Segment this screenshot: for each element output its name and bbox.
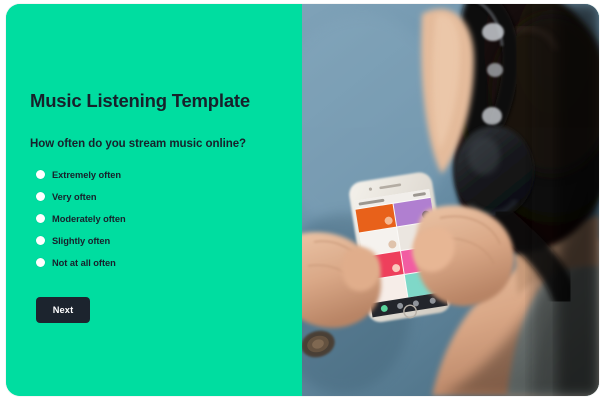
option-label: Not at all often bbox=[52, 258, 116, 268]
next-button[interactable]: Next bbox=[36, 297, 90, 323]
music-listening-survey-card: Music Listening Template How often do yo… bbox=[6, 4, 599, 396]
headphones-listener-photo bbox=[302, 4, 599, 396]
option-not-at-all-often[interactable]: Not at all often bbox=[30, 252, 288, 273]
option-label: Very often bbox=[52, 192, 96, 202]
option-extremely-often[interactable]: Extremely often bbox=[30, 164, 288, 185]
option-label: Moderately often bbox=[52, 214, 126, 224]
radio-icon[interactable] bbox=[36, 214, 45, 223]
option-moderately-often[interactable]: Moderately often bbox=[30, 208, 288, 229]
radio-icon[interactable] bbox=[36, 170, 45, 179]
option-label: Slightly often bbox=[52, 236, 110, 246]
form-content: Music Listening Template How often do yo… bbox=[30, 90, 288, 323]
question-label: How often do you stream music online? bbox=[30, 138, 288, 150]
radio-icon[interactable] bbox=[36, 236, 45, 245]
option-very-often[interactable]: Very often bbox=[30, 186, 288, 207]
options-list: Extremely often Very often Moderately of… bbox=[30, 164, 288, 273]
option-label: Extremely often bbox=[52, 170, 121, 180]
radio-icon[interactable] bbox=[36, 192, 45, 201]
option-slightly-often[interactable]: Slightly often bbox=[30, 230, 288, 251]
radio-icon[interactable] bbox=[36, 258, 45, 267]
hero-photo bbox=[302, 4, 599, 396]
form-panel: Music Listening Template How often do yo… bbox=[6, 4, 302, 396]
page-title: Music Listening Template bbox=[30, 90, 288, 112]
